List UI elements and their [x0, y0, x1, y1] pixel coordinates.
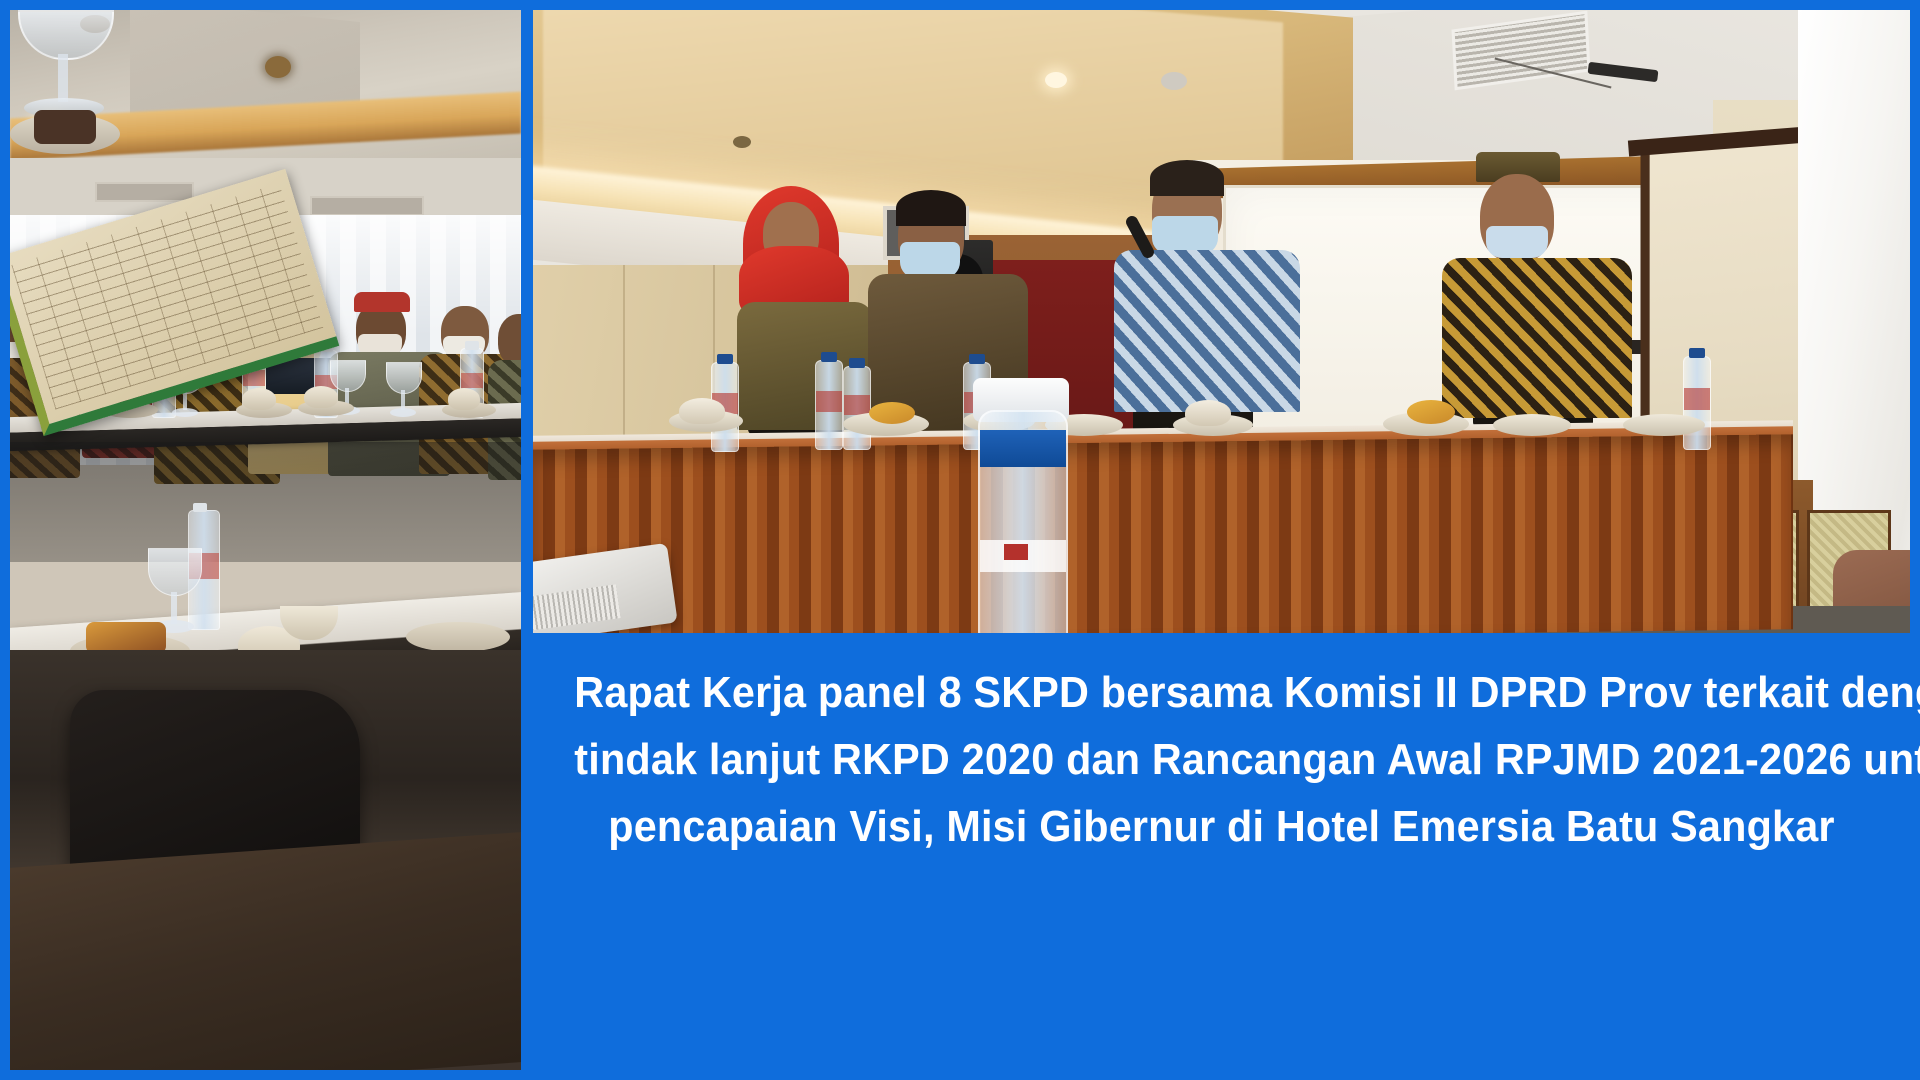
dessert-plate	[406, 622, 510, 652]
water-bottle	[1683, 356, 1711, 450]
tea-cup	[679, 398, 725, 424]
poster-caption: Rapat Kerja panel 8 SKPD bersama Komisi …	[574, 660, 1868, 861]
water-bottle	[843, 366, 871, 450]
caption-line-2: tindak lanjut RKPD 2020 dan Rancangan Aw…	[574, 727, 1868, 794]
sprinkler-head-icon	[1161, 72, 1187, 90]
tea-cup	[1185, 400, 1231, 426]
caption-line-1: Rapat Kerja panel 8 SKPD bersama Komisi …	[574, 660, 1868, 727]
tea-cup	[242, 388, 276, 410]
front-table-surface	[10, 832, 521, 1070]
tea-cup	[304, 386, 338, 408]
tea-cup	[448, 388, 480, 410]
snack	[869, 402, 915, 424]
meeting-participants-photo	[10, 10, 521, 1070]
saucer	[1623, 414, 1705, 436]
sprinkler-head-icon	[265, 56, 291, 78]
large-water-bottle	[978, 410, 1068, 633]
caption-line-3: pencapaian Visi, Misi Gibernur di Hotel …	[574, 794, 1868, 861]
table-skirt	[533, 434, 1793, 633]
snack	[1407, 400, 1455, 424]
water-bottle	[815, 360, 843, 450]
air-vent-icon	[95, 182, 194, 202]
table-legs-shadow	[10, 442, 521, 562]
panel-head-table-photo	[533, 10, 1910, 633]
downlight-icon	[1045, 72, 1067, 88]
drinking-glass	[386, 362, 420, 422]
air-vent-icon	[310, 196, 424, 216]
saucer	[1493, 414, 1571, 436]
poster-canvas: Rapat Kerja panel 8 SKPD bersama Komisi …	[0, 0, 1920, 1080]
ceiling-fixture-icon	[733, 136, 751, 148]
